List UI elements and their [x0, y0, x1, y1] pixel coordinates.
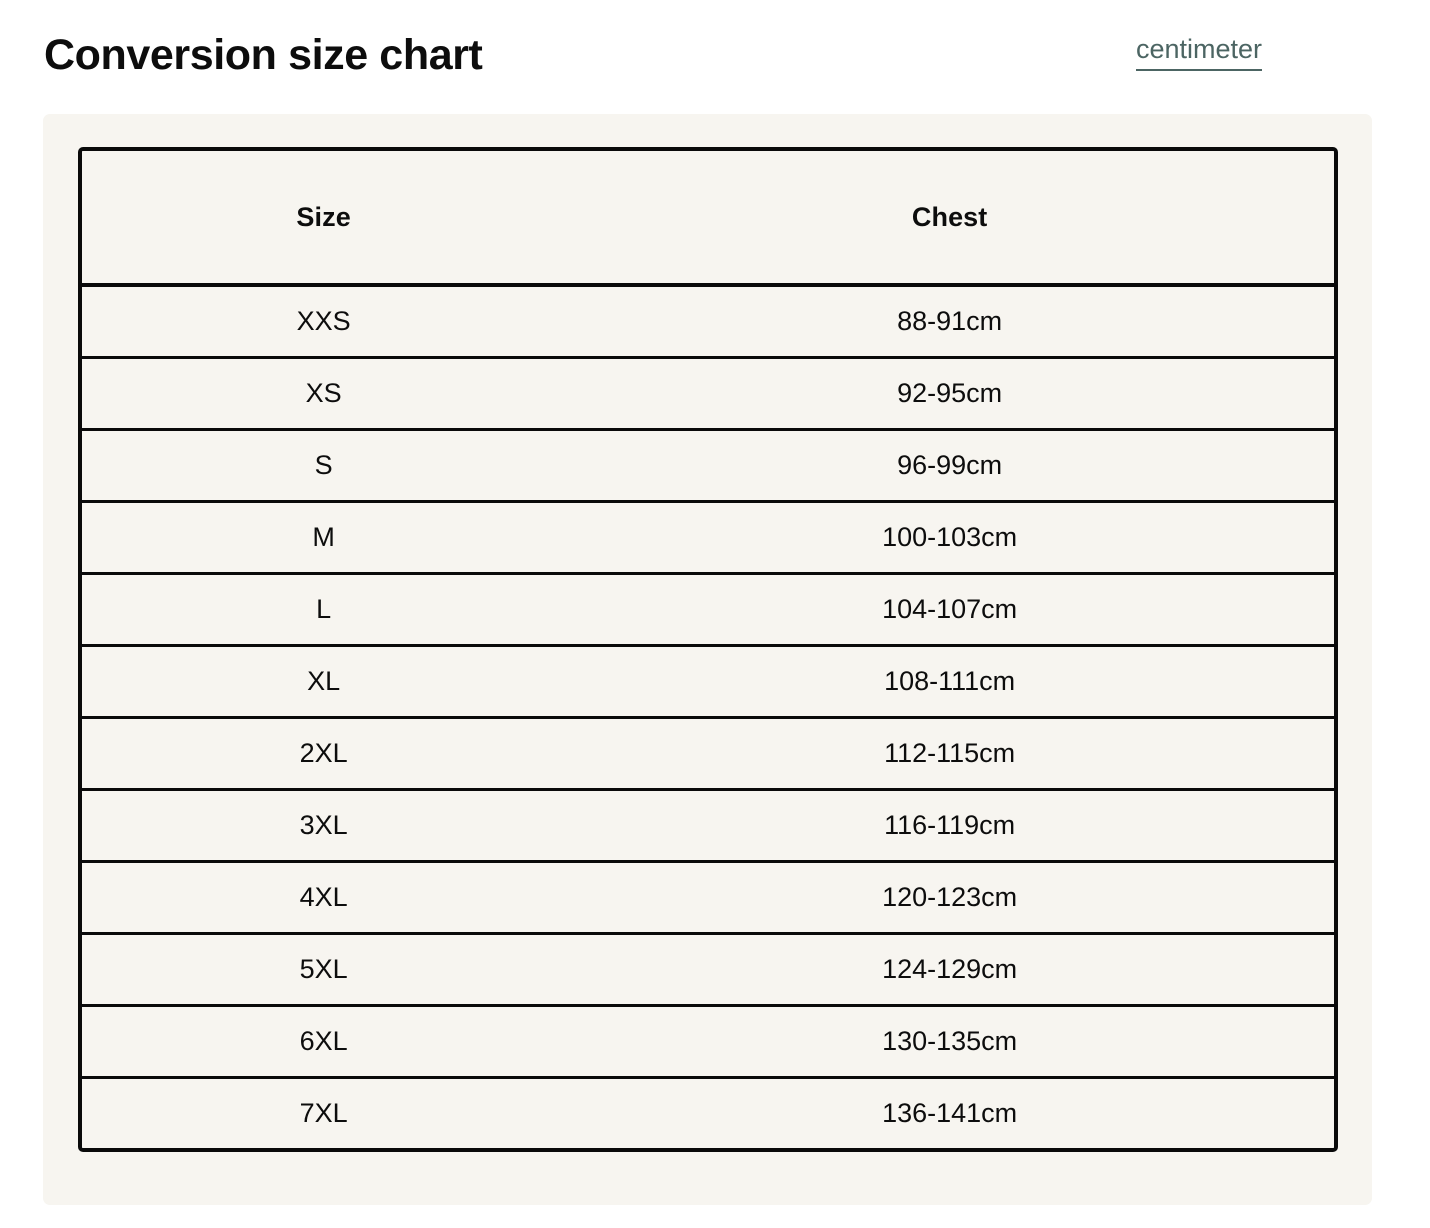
table-row: 7XL 136-141cm: [82, 1078, 1334, 1149]
cell-chest: 112-115cm: [565, 718, 1334, 790]
cell-size: 3XL: [82, 790, 565, 862]
table-row: XS 92-95cm: [82, 358, 1334, 430]
size-chart-table: Size Chest XXS 88-91cm XS 92-95cm S 96-9…: [78, 147, 1338, 1152]
cell-size: S: [82, 430, 565, 502]
table-body: XXS 88-91cm XS 92-95cm S 96-99cm M 100-1…: [82, 285, 1334, 1148]
table-row: 2XL 112-115cm: [82, 718, 1334, 790]
table-row: L 104-107cm: [82, 574, 1334, 646]
cell-size: L: [82, 574, 565, 646]
page-header: Conversion size chart centimeter: [0, 0, 1430, 114]
page-title: Conversion size chart: [0, 0, 482, 77]
cell-chest: 88-91cm: [565, 285, 1334, 358]
cell-size: 6XL: [82, 1006, 565, 1078]
table-row: 5XL 124-129cm: [82, 934, 1334, 1006]
cell-size: 2XL: [82, 718, 565, 790]
table-row: 6XL 130-135cm: [82, 1006, 1334, 1078]
cell-size: XL: [82, 646, 565, 718]
cell-chest: 116-119cm: [565, 790, 1334, 862]
table-row: XL 108-111cm: [82, 646, 1334, 718]
cell-size: XXS: [82, 285, 565, 358]
table-row: S 96-99cm: [82, 430, 1334, 502]
table-row: 3XL 116-119cm: [82, 790, 1334, 862]
cell-chest: 104-107cm: [565, 574, 1334, 646]
cell-chest: 92-95cm: [565, 358, 1334, 430]
cell-chest: 130-135cm: [565, 1006, 1334, 1078]
cell-size: 7XL: [82, 1078, 565, 1149]
table-header: Size Chest: [82, 151, 1334, 285]
size-table-element: Size Chest XXS 88-91cm XS 92-95cm S 96-9…: [82, 151, 1334, 1148]
cell-size: 5XL: [82, 934, 565, 1006]
table-header-row: Size Chest: [82, 151, 1334, 285]
table-row: M 100-103cm: [82, 502, 1334, 574]
cell-chest: 108-111cm: [565, 646, 1334, 718]
cell-chest: 120-123cm: [565, 862, 1334, 934]
cell-chest: 136-141cm: [565, 1078, 1334, 1149]
cell-chest: 124-129cm: [565, 934, 1334, 1006]
unit-toggle-link[interactable]: centimeter: [1136, 34, 1262, 71]
table-row: XXS 88-91cm: [82, 285, 1334, 358]
column-header-size: Size: [82, 151, 565, 285]
table-row: 4XL 120-123cm: [82, 862, 1334, 934]
unit-toggle-container: centimeter: [1136, 0, 1430, 63]
cell-size: M: [82, 502, 565, 574]
cell-size: XS: [82, 358, 565, 430]
column-header-chest: Chest: [565, 151, 1334, 285]
cell-chest: 100-103cm: [565, 502, 1334, 574]
cell-size: 4XL: [82, 862, 565, 934]
size-chart-page: Conversion size chart centimeter Size Ch…: [0, 0, 1430, 1228]
cell-chest: 96-99cm: [565, 430, 1334, 502]
